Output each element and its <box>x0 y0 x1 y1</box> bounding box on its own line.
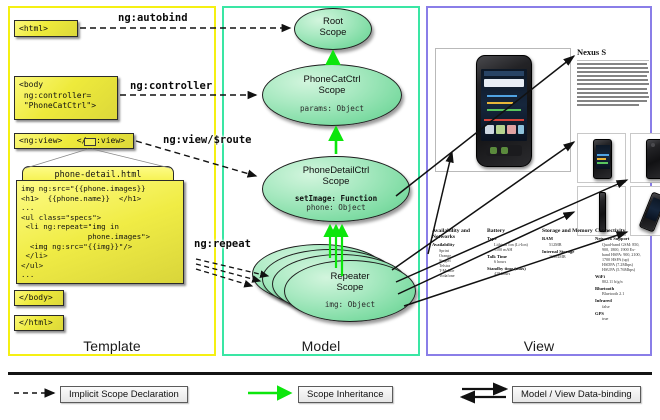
legend-icon-double-arrow <box>462 389 506 397</box>
spec-column: Storage and MemoryRAM512MBInternal Stora… <box>542 228 594 259</box>
diagram-canvas: <html> <body ng:controller= "PhoneCatCtr… <box>0 0 660 420</box>
description-text-line <box>577 104 639 106</box>
spec-value: Vodafone <box>432 273 484 278</box>
scope-repeater-prop: img: Object <box>285 300 415 309</box>
scope-repeater: Repeater Scope img: Object <box>284 260 416 322</box>
description-text-line <box>577 100 647 102</box>
thumbnail-back[interactable] <box>630 133 660 183</box>
scope-phonecatctrl-title: PhoneCatCtrl Scope <box>263 74 401 96</box>
product-description <box>577 63 649 125</box>
scope-phonedetailctrl-title: PhoneDetailCtrl Scope <box>263 165 409 187</box>
scope-phonecatctrl-prop: params: Object <box>263 104 401 113</box>
connector-label-repeat: ng:repeat <box>194 238 251 250</box>
spec-column: BatteryTypeLithium Ion (Li-Ion)1500 mAHT… <box>487 228 539 276</box>
spec-value: band HSPA: 900, 2100, <box>595 252 647 257</box>
description-text-line <box>577 92 648 94</box>
description-text-line <box>577 88 647 90</box>
description-text-line <box>577 83 649 85</box>
code-box-body-close: </body> <box>14 290 64 306</box>
spec-value: 512MB <box>542 242 594 247</box>
spec-table: Availability and NetworksAvailabilitySpr… <box>432 228 646 340</box>
spec-value: false <box>595 304 647 309</box>
code-box-html-open: <html> <box>14 20 78 37</box>
description-text-line <box>577 63 647 65</box>
product-title: Nexus S <box>577 47 651 57</box>
phone-hero-image <box>435 48 571 172</box>
scope-phonedetailctrl-prop-phone: phone: Object <box>263 203 409 212</box>
description-text-line <box>577 67 648 69</box>
spec-column-header: Battery <box>487 228 539 234</box>
phone-hero-body <box>476 55 532 167</box>
panel-label-view: View <box>426 338 652 354</box>
legend-model-view-data-binding: Model / View Data-binding <box>512 386 641 403</box>
spec-value: 16384MB <box>542 254 594 259</box>
legend-implicit-scope-declaration: Implicit Scope Declaration <box>60 386 188 403</box>
connector-label-autobind: ng:autobind <box>118 12 188 24</box>
legend-scope-inheritance: Scope Inheritance <box>298 386 393 403</box>
spec-column: ConnectivityNetwork SupportQuad-band GSM… <box>595 228 647 321</box>
spec-value: Quad-band GSM: 850, <box>595 242 647 247</box>
spec-value: Bluetooth 2.1 <box>595 291 647 296</box>
scope-root: Root Scope <box>294 8 372 50</box>
legend-divider <box>8 372 652 375</box>
scope-phonecatctrl: PhoneCatCtrl Scope params: Object <box>262 64 402 126</box>
spec-value: 428 hours <box>487 271 539 276</box>
thumbnail-front[interactable] <box>577 133 626 183</box>
phone-hero-screen <box>481 69 527 141</box>
scope-root-title: Root Scope <box>295 16 371 38</box>
scope-phonedetailctrl-prop-setimage: setImage: Function <box>263 194 409 203</box>
code-box-html-close: </html> <box>14 315 64 331</box>
code-box-phone-detail: img ng:src="{{phone.images}} <h1> {{phon… <box>16 180 184 284</box>
spec-value: 6 hours <box>487 259 539 264</box>
connector-label-controller: ng:controller <box>130 80 212 92</box>
ng-view-slot-icon <box>84 138 96 146</box>
spec-column-header: Connectivity <box>595 228 647 234</box>
spec-column-header: Availability and Networks <box>432 228 484 240</box>
code-box-body-open: <body ng:controller= "PhoneCatCtrl"> <box>14 76 118 120</box>
panel-label-template: Template <box>8 338 216 354</box>
spec-value: 1500 mAH <box>487 247 539 252</box>
panel-label-model: Model <box>222 338 420 354</box>
description-text-line <box>577 96 649 98</box>
scope-phonedetailctrl: PhoneDetailCtrl Scope setImage: Function… <box>262 156 410 222</box>
description-text-line <box>577 75 647 77</box>
title-divider <box>577 60 649 61</box>
scope-repeater-title: Repeater Scope <box>285 271 415 293</box>
spec-value: HSUPA (5.76Mbps) <box>595 267 647 272</box>
spec-column: Availability and NetworksAvailabilitySpr… <box>432 228 484 278</box>
spec-value: true <box>595 316 647 321</box>
description-text-line <box>577 71 649 73</box>
spec-column-header: Storage and Memory <box>542 228 594 234</box>
spec-value: 802.11 b/g/n <box>595 279 647 284</box>
connector-label-ngview-route: ng:view/$route <box>163 134 252 146</box>
description-text-line <box>577 79 648 81</box>
code-box-ng-view: <ng:view> </ng:view> <box>14 133 134 149</box>
